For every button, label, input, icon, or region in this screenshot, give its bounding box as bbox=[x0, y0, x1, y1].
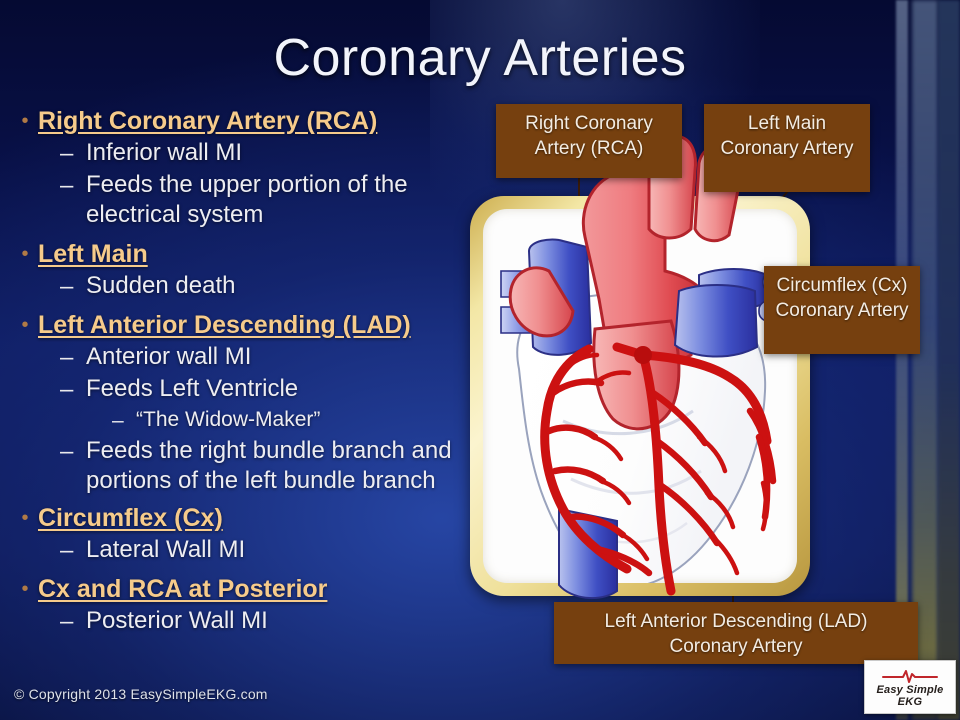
bullet-marker-dash: – bbox=[112, 406, 136, 436]
bullet-marker-dash: – bbox=[60, 374, 86, 406]
bullet-marker-dot: • bbox=[12, 503, 38, 533]
bullet-marker-dash: – bbox=[60, 271, 86, 303]
copyright-notice: © Copyright 2013 EasySimpleEKG.com bbox=[14, 686, 268, 702]
logo-line-1: Easy Simple bbox=[876, 684, 943, 696]
slide-title: Coronary Arteries bbox=[0, 28, 960, 88]
bullet-sudden-death: – Sudden death bbox=[8, 271, 478, 303]
bullet-feeds-left-ventricle: – Feeds Left Ventricle bbox=[8, 374, 478, 406]
heart-anatomy-illustration bbox=[467, 179, 813, 609]
bullet-circumflex: • Circumflex (Cx) bbox=[8, 503, 478, 534]
bullet-posterior-wall-mi: – Posterior Wall MI bbox=[8, 606, 478, 638]
spacer bbox=[8, 496, 478, 503]
callout-left-main-coronary-artery[interactable]: Left Main Coronary Artery bbox=[704, 104, 870, 192]
easy-simple-ekg-logo[interactable]: Easy Simple EKG bbox=[864, 660, 956, 714]
slide-canvas: Coronary Arteries • Right Coronary Arter… bbox=[0, 0, 960, 720]
bullet-marker-dash: – bbox=[60, 535, 86, 567]
bullet-marker-dash: – bbox=[60, 342, 86, 374]
bullet-marker-dot: • bbox=[12, 106, 38, 136]
bullet-anterior-wall-mi: – Anterior wall MI bbox=[8, 342, 478, 374]
ekg-waveform-icon bbox=[881, 668, 939, 684]
logo-line-2: EKG bbox=[898, 696, 923, 708]
bullet-text: Lateral Wall MI bbox=[86, 535, 245, 565]
background-band-right bbox=[938, 0, 960, 720]
heart-diagram-panel bbox=[483, 209, 797, 583]
spacer bbox=[8, 303, 478, 310]
spacer bbox=[8, 230, 478, 239]
callout-circumflex-coronary-artery[interactable]: Circumflex (Cx) Coronary Artery bbox=[764, 266, 920, 354]
bullet-feeds-bundle-branches: – Feeds the right bundle branch and port… bbox=[8, 436, 478, 496]
bullet-rca: • Right Coronary Artery (RCA) bbox=[8, 106, 478, 137]
bullet-text: “The Widow-Maker” bbox=[136, 406, 320, 434]
bullet-feeds-electrical-system: – Feeds the upper portion of the electri… bbox=[8, 170, 478, 230]
bullet-marker-dash: – bbox=[60, 170, 86, 202]
callout-right-coronary-artery[interactable]: Right Coronary Artery (RCA) bbox=[496, 104, 682, 178]
bullet-text: Left Anterior Descending (LAD) bbox=[38, 310, 411, 341]
bullet-marker-dash: – bbox=[60, 606, 86, 638]
bullet-lad: • Left Anterior Descending (LAD) bbox=[8, 310, 478, 341]
bullet-text: Cx and RCA at Posterior bbox=[38, 574, 327, 605]
bullet-marker-dot: • bbox=[12, 310, 38, 340]
bullet-text: Right Coronary Artery (RCA) bbox=[38, 106, 377, 137]
bullet-text: Feeds Left Ventricle bbox=[86, 374, 298, 404]
bullet-text: Feeds the right bundle branch and portio… bbox=[86, 436, 476, 496]
bullet-inferior-wall-mi: – Inferior wall MI bbox=[8, 138, 478, 170]
heart-diagram-frame bbox=[470, 196, 810, 596]
callout-lad-coronary-artery[interactable]: Left Anterior Descending (LAD) Coronary … bbox=[554, 602, 918, 664]
bullet-marker-dash: – bbox=[60, 138, 86, 170]
bullet-text: Anterior wall MI bbox=[86, 342, 251, 372]
bullet-lateral-wall-mi: – Lateral Wall MI bbox=[8, 535, 478, 567]
spacer bbox=[8, 567, 478, 574]
bullet-text: Inferior wall MI bbox=[86, 138, 242, 168]
bullet-marker-dash: – bbox=[60, 436, 86, 468]
bullet-cx-and-rca-posterior: • Cx and RCA at Posterior bbox=[8, 574, 478, 605]
bullet-left-main: • Left Main bbox=[8, 239, 478, 270]
bullet-marker-dot: • bbox=[12, 574, 38, 604]
bullet-marker-dot: • bbox=[12, 239, 38, 269]
bullet-text: Sudden death bbox=[86, 271, 235, 301]
bullet-widow-maker: – “The Widow-Maker” bbox=[8, 406, 478, 436]
bullet-list: • Right Coronary Artery (RCA) – Inferior… bbox=[8, 106, 478, 638]
bullet-text: Posterior Wall MI bbox=[86, 606, 268, 636]
bullet-text: Left Main bbox=[38, 239, 148, 270]
bullet-text: Feeds the upper portion of the electrica… bbox=[86, 170, 476, 230]
bullet-text: Circumflex (Cx) bbox=[38, 503, 223, 534]
